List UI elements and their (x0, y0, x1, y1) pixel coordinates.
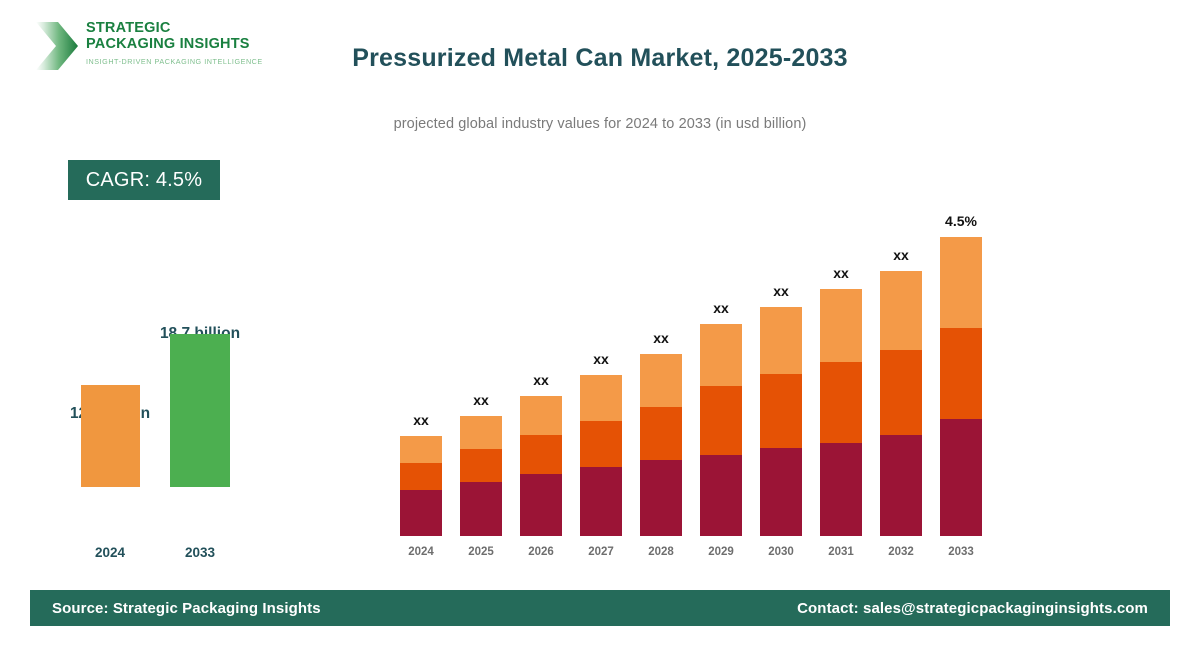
stacked-bar-segment-segment-3 (580, 375, 622, 421)
stacked-bar-value-label: xx (386, 412, 456, 428)
stacked-bar-segment-segment-3 (700, 324, 742, 386)
stacked-bar-segments (820, 289, 862, 536)
footer-bar: Source: Strategic Packaging Insights Con… (30, 590, 1170, 626)
stacked-bar-segment-segment-1 (880, 435, 922, 536)
stacked-bar-segment-segment-2 (580, 421, 622, 467)
stacked-bar-axis-label: 2033 (931, 546, 991, 558)
stacked-bar-segment-segment-1 (580, 467, 622, 536)
stacked-bar-segment-segment-2 (700, 386, 742, 455)
stacked-bar-axis-label: 2028 (631, 546, 691, 558)
stacked-bar-axis-label: 2025 (451, 546, 511, 558)
stacked-bar-segment-segment-2 (940, 328, 982, 419)
stacked-bar-axis-label: 2030 (751, 546, 811, 558)
stacked-bar-segments (700, 324, 742, 536)
stacked-bar-segment-segment-3 (400, 436, 442, 463)
stacked-bar-segment-segment-3 (520, 396, 562, 435)
stacked-bar-segments (760, 307, 802, 536)
stacked-bar-axis-label: 2029 (691, 546, 751, 558)
stacked-bar-segments (400, 436, 442, 536)
stacked-bar-value-label: xx (866, 247, 936, 263)
stacked-bar-axis-label: 2032 (871, 546, 931, 558)
stacked-bar-segment-segment-2 (820, 362, 862, 443)
stacked-bar-segment-segment-1 (820, 443, 862, 536)
stacked-bar-segment-segment-2 (760, 374, 802, 448)
stacked-bar-segment-segment-1 (400, 490, 442, 536)
stacked-bar-segment-segment-1 (520, 474, 562, 536)
stacked-bar-segment-segment-1 (940, 419, 982, 536)
stacked-bar-segments (880, 271, 922, 536)
stacked-bar-axis-label: 2031 (811, 546, 871, 558)
stacked-bar-segment-segment-2 (400, 463, 442, 490)
stacked-bar-segment-segment-2 (520, 435, 562, 474)
stacked-bar-segments (940, 237, 982, 536)
comparison-bar-2033 (170, 334, 230, 487)
stacked-bar-segments (580, 375, 622, 536)
stacked-bar-value-label: xx (446, 392, 516, 408)
stacked-bar-segment-segment-3 (940, 237, 982, 328)
comparison-axis-label-2024: 2024 (70, 545, 150, 560)
stacked-bar-axis-label: 2024 (391, 546, 451, 558)
stacked-bar-value-label: xx (626, 330, 696, 346)
comparison-chart: 12.5 billion 18.7 billion 2024 2033 (0, 0, 320, 600)
stacked-bar-segments (460, 416, 502, 536)
stacked-bar-chart: xx2024xx2025xx2026xx2027xx2028xx2029xx20… (400, 190, 1020, 560)
stacked-bar-value-label: xx (806, 265, 876, 281)
stacked-bar-segments (640, 354, 682, 536)
comparison-axis-label-2033: 2033 (160, 545, 240, 560)
stacked-bar-axis-label: 2026 (511, 546, 571, 558)
stacked-bar-value-label: xx (506, 372, 576, 388)
stacked-bar-segment-segment-1 (760, 448, 802, 536)
stacked-bar-segment-segment-3 (640, 354, 682, 407)
stacked-bar-segment-segment-2 (640, 407, 682, 460)
stacked-bar-segments (520, 396, 562, 536)
stacked-bar-value-label: 4.5% (926, 213, 996, 229)
stacked-bar-value-label: xx (686, 300, 756, 316)
footer-source: Source: Strategic Packaging Insights (52, 600, 321, 617)
stacked-bar-value-label: xx (566, 351, 636, 367)
stacked-bar-segment-segment-3 (820, 289, 862, 362)
stacked-bar-segment-segment-3 (880, 271, 922, 350)
stacked-bar-segment-segment-2 (460, 449, 502, 482)
stacked-bar-value-label: xx (746, 283, 816, 299)
stacked-bar-axis-label: 2027 (571, 546, 631, 558)
stacked-bar-segment-segment-3 (760, 307, 802, 374)
stacked-bar-segment-segment-1 (700, 455, 742, 536)
stacked-bar-segment-segment-3 (460, 416, 502, 449)
stacked-bar-segment-segment-1 (640, 460, 682, 536)
footer-contact: Contact: sales@strategicpackaginginsight… (797, 600, 1148, 617)
stacked-bar-segment-segment-1 (460, 482, 502, 536)
comparison-bar-2024 (81, 385, 140, 487)
stacked-bar-segment-segment-2 (880, 350, 922, 435)
